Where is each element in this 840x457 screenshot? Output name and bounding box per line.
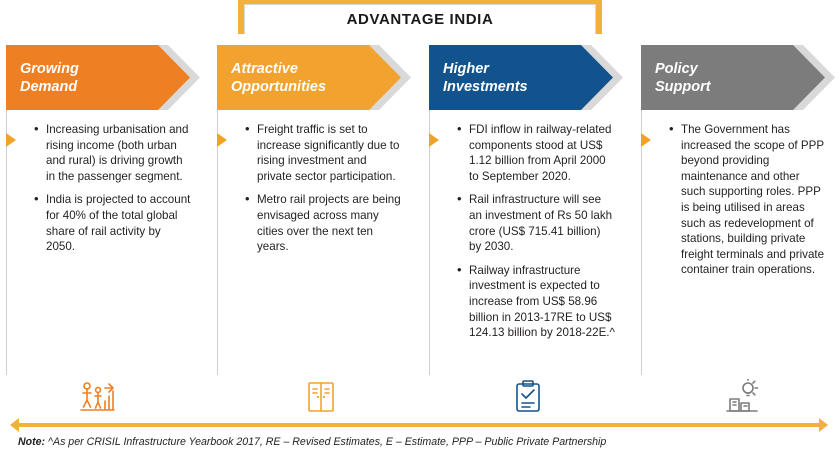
- column-attractive-opportunities: Attractive Opportunities: [217, 45, 411, 110]
- bullet-marker-0: [6, 133, 16, 147]
- list-item: Metro rail projects are being envisaged …: [243, 192, 403, 254]
- column-divider-2: [429, 110, 430, 375]
- chevron-label-line2: Demand: [20, 79, 77, 95]
- chevron-label: Policy Support: [641, 60, 735, 96]
- chevron-body: Policy Support: [641, 45, 825, 110]
- chevron-label-line2: Investments: [443, 79, 528, 95]
- chevron-body: Attractive Opportunities: [217, 45, 401, 110]
- arrow-right-cap: [819, 418, 828, 432]
- chevron-header-policy-support: Policy Support: [641, 45, 835, 110]
- list-item: FDI inflow in railway-related components…: [455, 122, 615, 184]
- government-building-idea-icon: [719, 378, 765, 416]
- chevron-label-line2: Opportunities: [231, 79, 326, 95]
- arrow-line: [18, 423, 820, 427]
- bullet-list-policy-support: The Government has increased the scope o…: [667, 122, 827, 286]
- list-item: Freight traffic is set to increase signi…: [243, 122, 403, 184]
- column-divider-3: [641, 110, 642, 375]
- chevron-body: Growing Demand: [6, 45, 190, 110]
- chevron-header-growing-demand: Growing Demand: [6, 45, 200, 110]
- chevron-label-line1: Higher: [443, 61, 489, 77]
- timeline-arrow-bar: [10, 417, 828, 433]
- bullet-marker-1: [217, 133, 227, 147]
- chevron-label: Higher Investments: [429, 60, 552, 96]
- chevron-label: Growing Demand: [6, 60, 103, 96]
- column-divider-1: [217, 110, 218, 375]
- column-divider-0: [6, 110, 7, 375]
- banner-inner: ADVANTAGE INDIA: [244, 4, 596, 34]
- chevron-label-line1: Policy: [655, 61, 698, 77]
- bullet-list-higher-investments: FDI inflow in railway-related components…: [455, 122, 615, 349]
- bullet-list-attractive-opportunities: Freight traffic is set to increase signi…: [243, 122, 403, 263]
- chevron-header-higher-investments: Higher Investments: [429, 45, 623, 110]
- column-policy-support: Policy Support: [641, 45, 835, 110]
- chevron-header-attractive-opportunities: Attractive Opportunities: [217, 45, 411, 110]
- advantage-india-banner: ADVANTAGE INDIA: [238, 0, 602, 34]
- clipboard-check-icon: [505, 378, 551, 416]
- chevron-label-line1: Attractive: [231, 61, 298, 77]
- column-growing-demand: Growing Demand: [6, 45, 200, 110]
- footnote-label: Note:: [18, 436, 45, 448]
- list-item: Increasing urbanisation and rising incom…: [32, 122, 192, 184]
- bullet-marker-3: [641, 133, 651, 147]
- bullet-marker-2: [429, 133, 439, 147]
- chevron-label-line2: Support: [655, 79, 711, 95]
- people-growth-icon: [73, 378, 119, 416]
- list-item: Railway infrastructure investment is exp…: [455, 263, 615, 341]
- chevron-label-line1: Growing: [20, 61, 79, 77]
- open-door-icon: [298, 378, 344, 416]
- column-higher-investments: Higher Investments: [429, 45, 623, 110]
- bullet-list-growing-demand: Increasing urbanisation and rising incom…: [32, 122, 192, 263]
- list-item: Rail infrastructure will see an investme…: [455, 192, 615, 254]
- footnote-text: ^As per CRISIL Infrastructure Yearbook 2…: [48, 436, 606, 448]
- footnote: Note: ^As per CRISIL Infrastructure Year…: [18, 436, 606, 448]
- page-title: ADVANTAGE INDIA: [347, 11, 494, 28]
- chevron-label: Attractive Opportunities: [217, 60, 350, 96]
- chevron-body: Higher Investments: [429, 45, 613, 110]
- list-item: India is projected to account for 40% of…: [32, 192, 192, 254]
- list-item: The Government has increased the scope o…: [667, 122, 827, 278]
